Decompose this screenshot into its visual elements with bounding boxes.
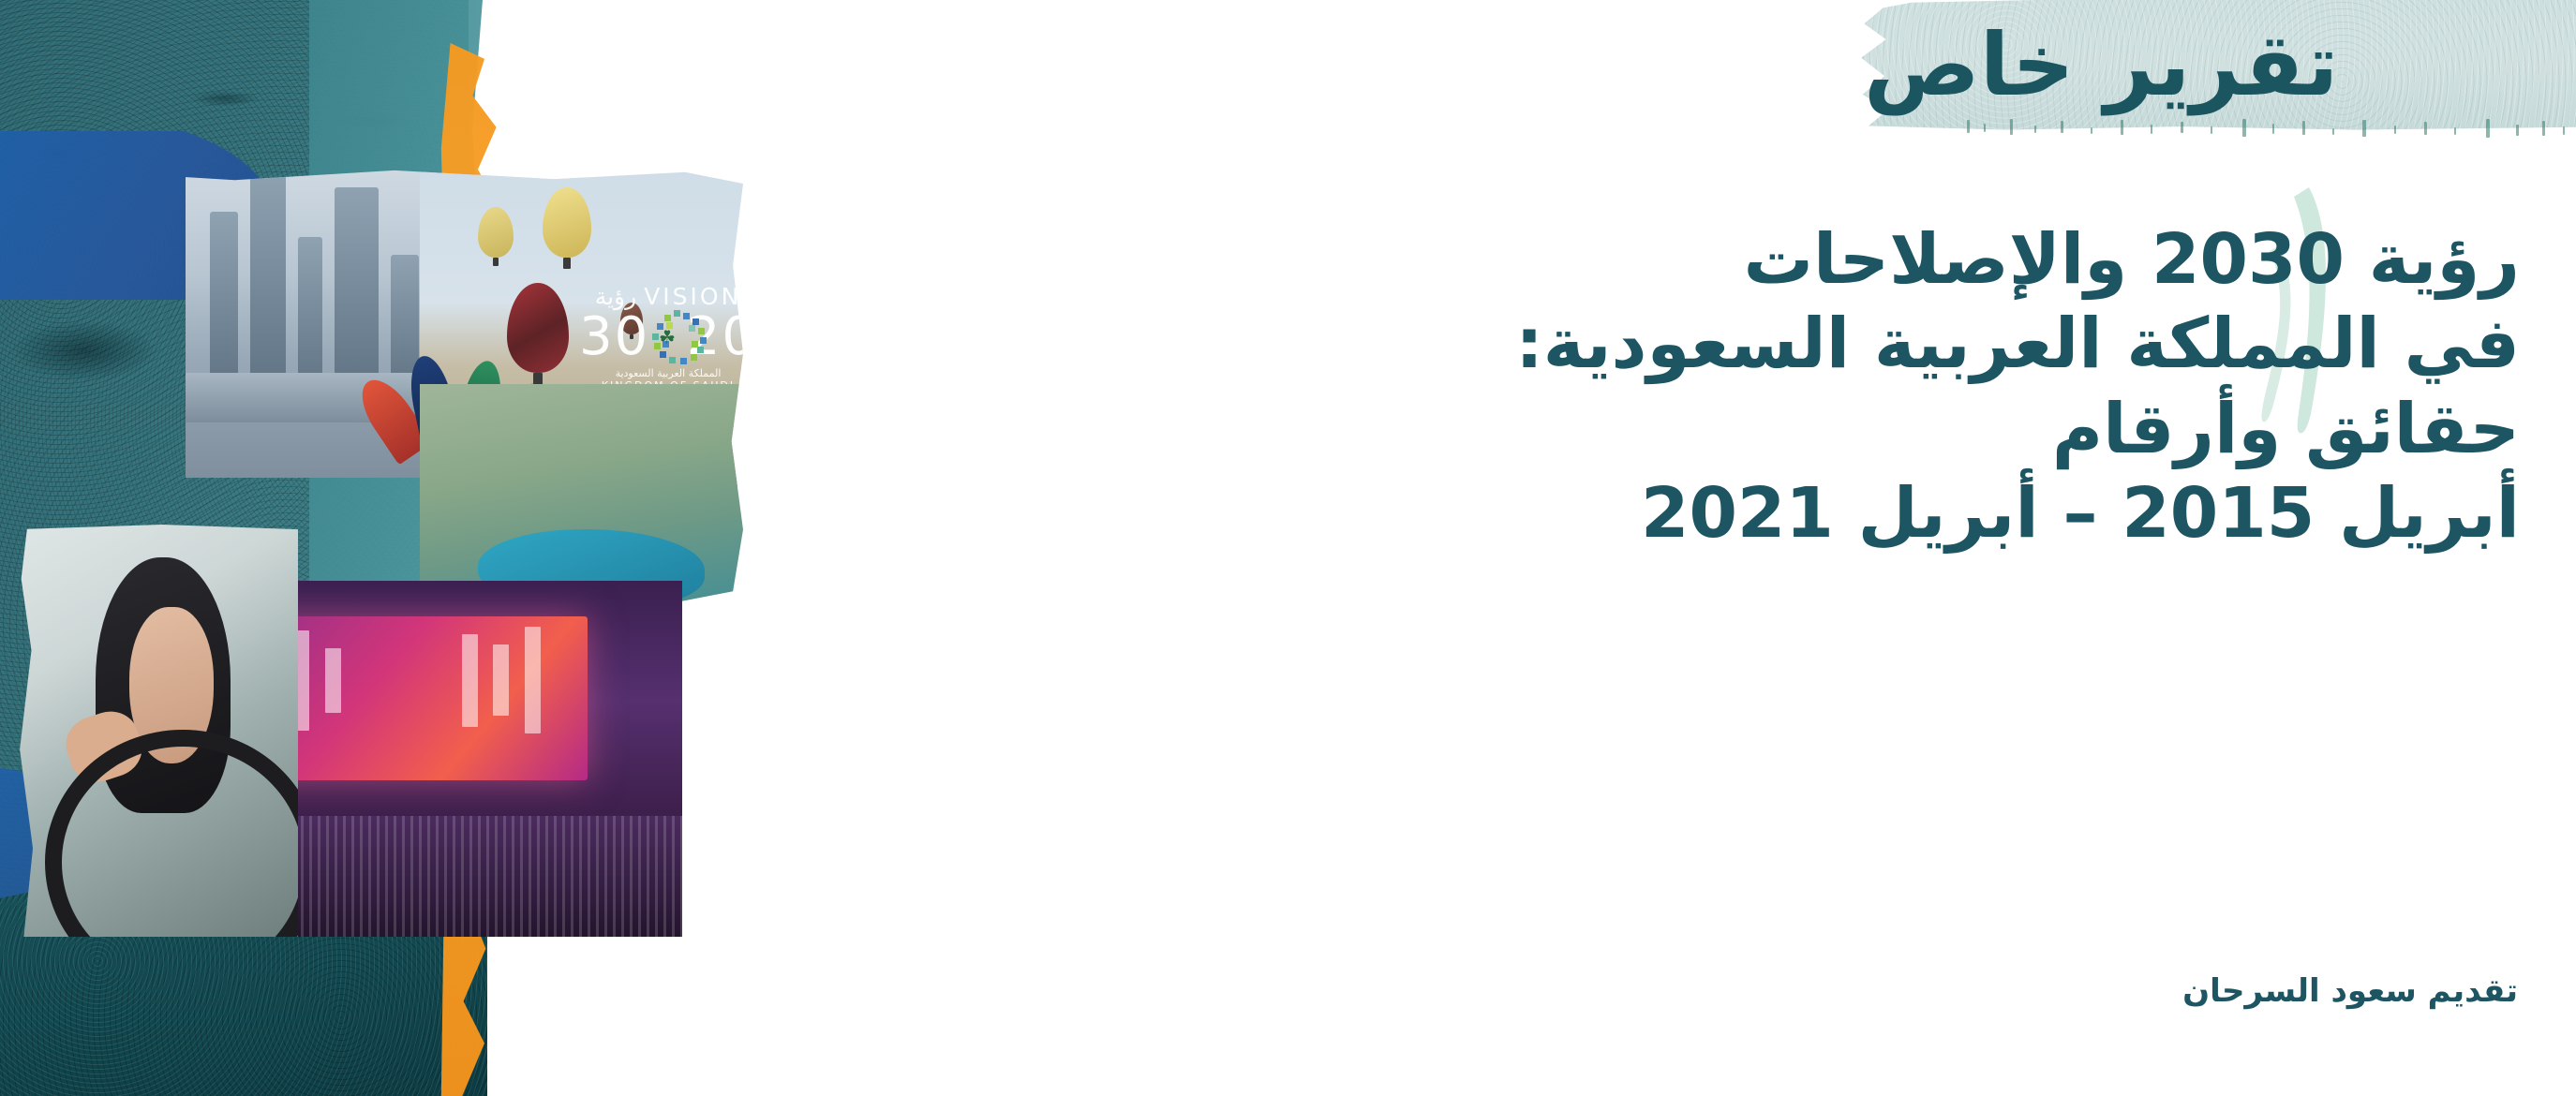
- report-cover-slide: VISION رؤية 20 ☘ 30 ال: [0, 0, 2576, 1096]
- title-line-1: رؤية 2030 والإصلاحات: [1114, 217, 2520, 302]
- vision-logo-year-right: 30: [579, 311, 649, 363]
- vision-logo-kingdom-ar: المملكة العربية السعودية: [579, 367, 743, 379]
- woman-driving-photo: [17, 525, 298, 937]
- banner-title: تقرير خاص: [1864, 2, 2539, 129]
- vision-logo-mosaic-icon: ☘: [651, 310, 684, 364]
- author-credit: تقديم سعود السرحان: [2182, 972, 2518, 1010]
- title-line-4: أبريل 2015 – أبريل 2021: [1114, 471, 2520, 555]
- title-line-3: حقائق وأرقام: [1114, 387, 2520, 471]
- palm-swords-emblem-icon: ☘: [659, 328, 678, 347]
- title-line-2: في المملكة العربية السعودية:: [1114, 302, 2520, 386]
- photo-collage-lower: [17, 525, 743, 974]
- report-title-block: رؤية 2030 والإصلاحات في المملكة العربية …: [1114, 217, 2520, 555]
